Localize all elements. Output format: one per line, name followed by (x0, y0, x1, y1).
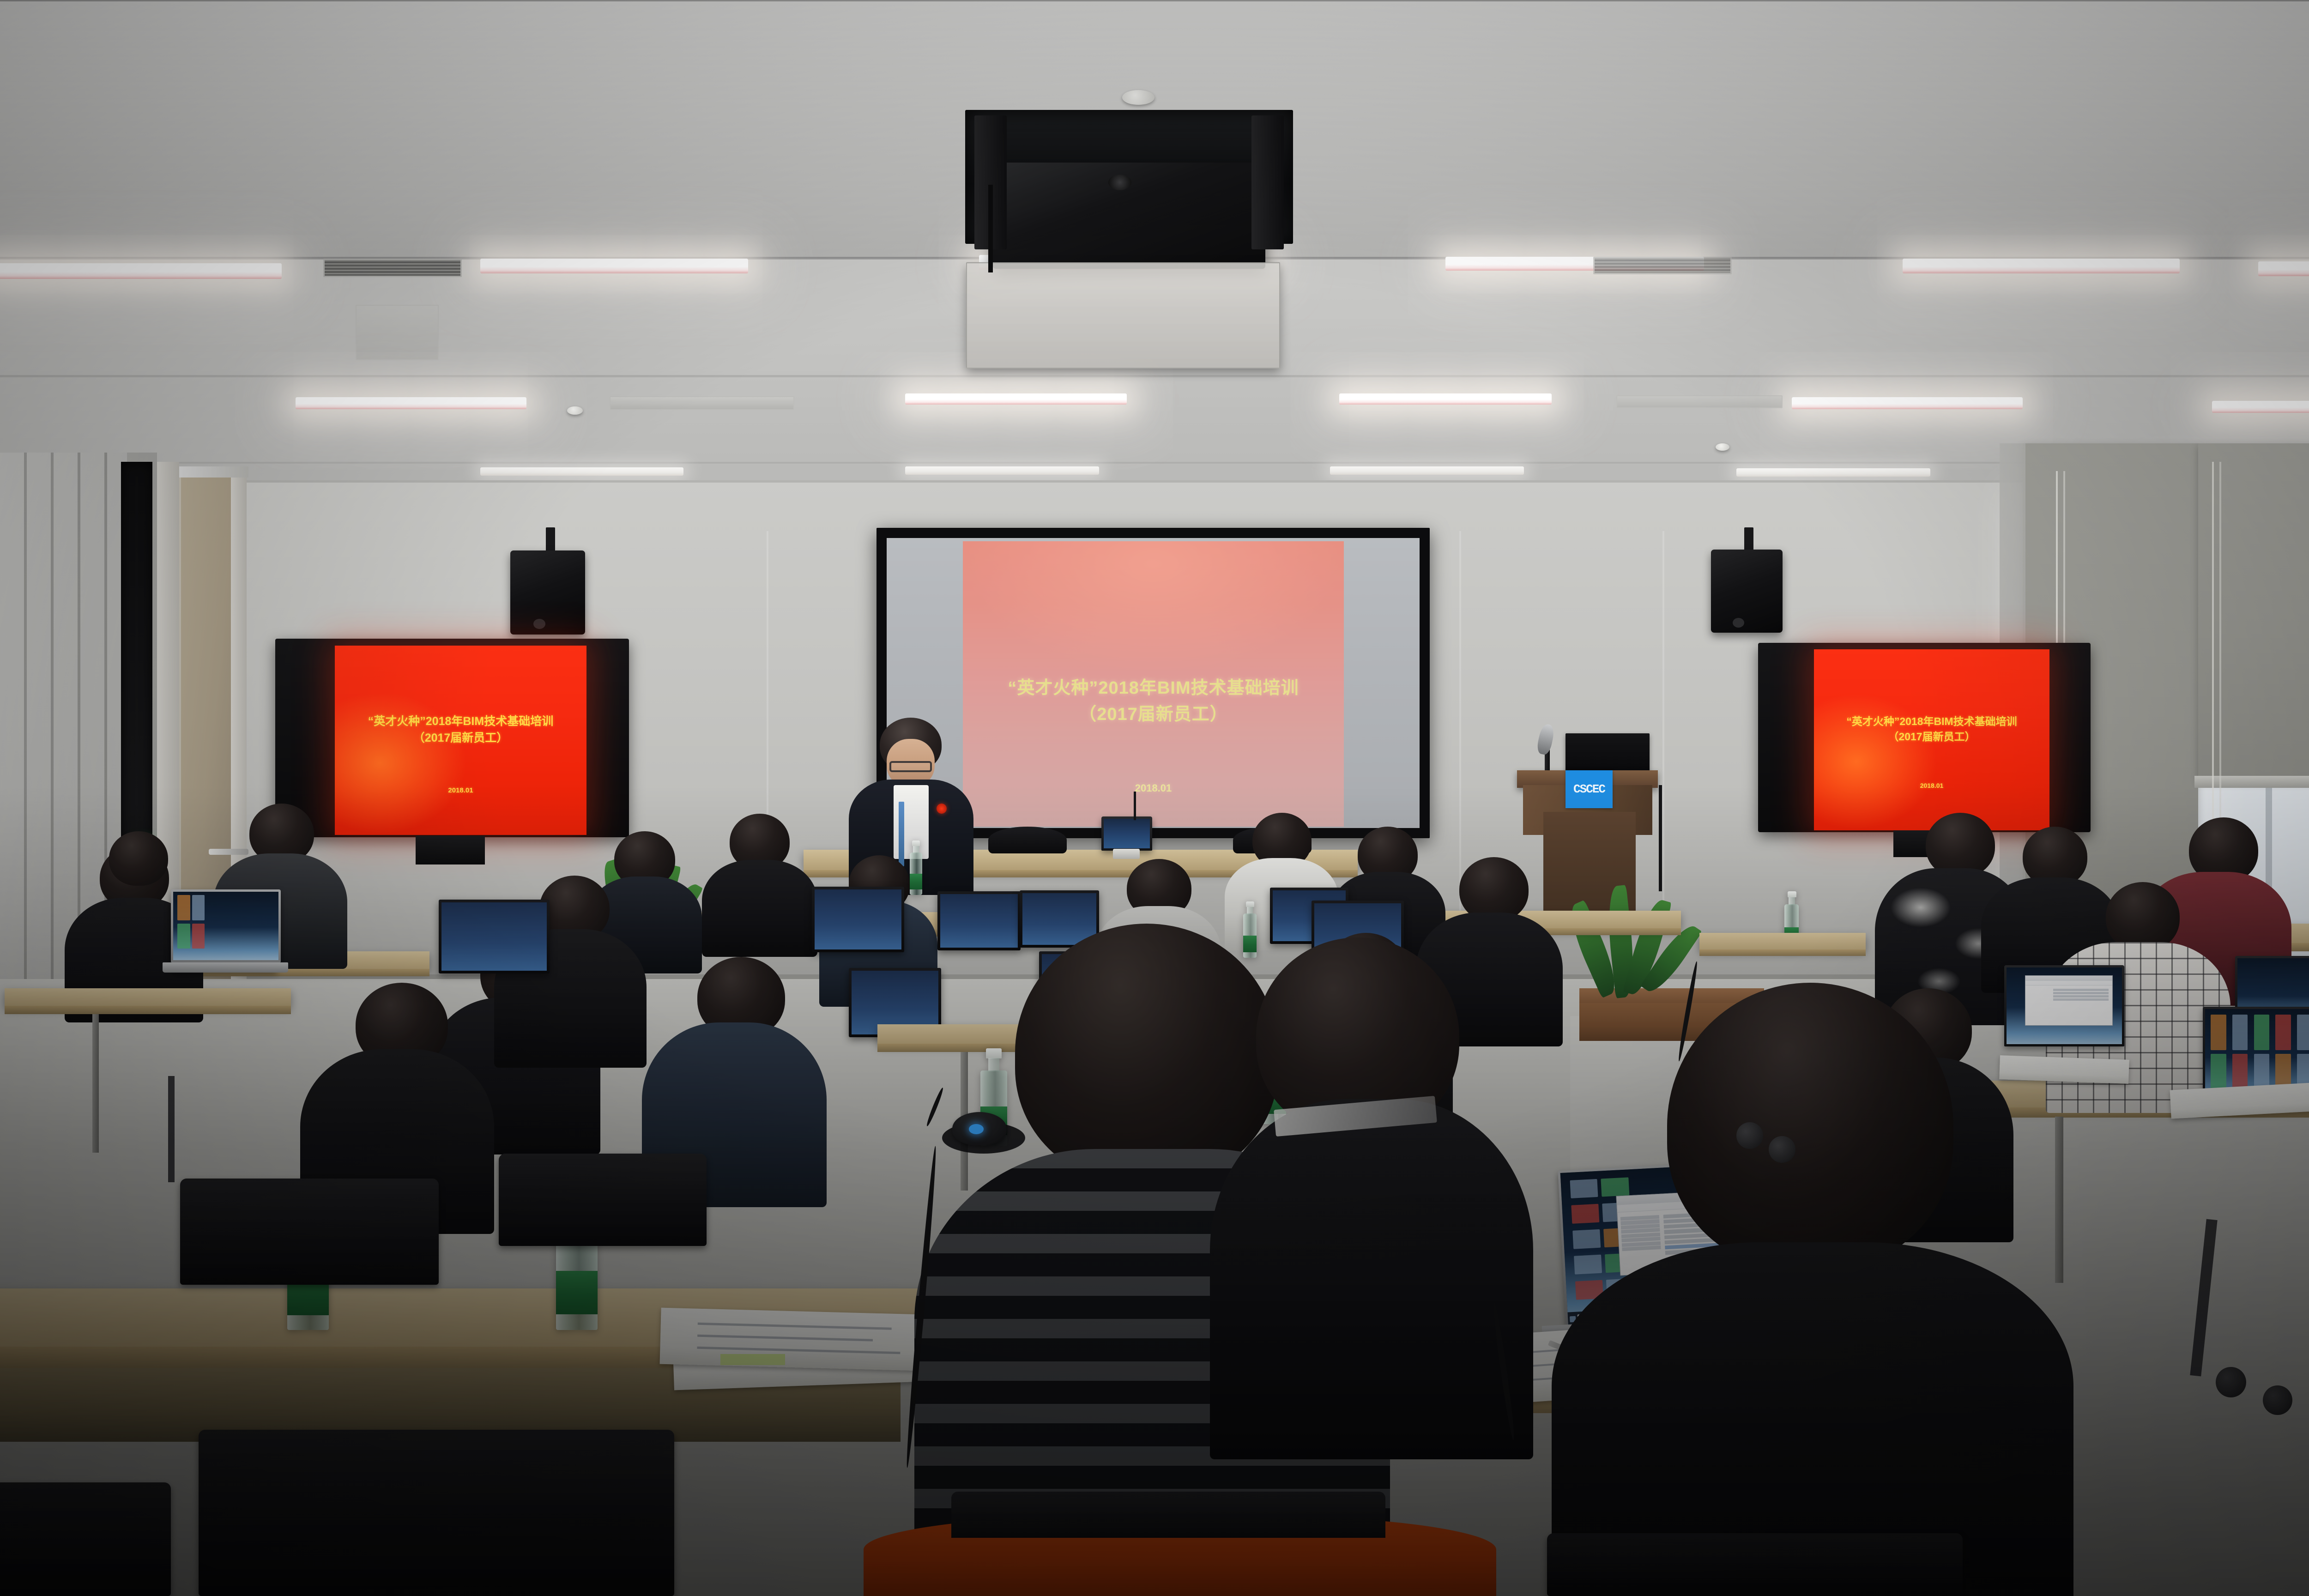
chair-caster (2216, 1367, 2246, 1397)
smoke-detector-icon (567, 406, 583, 415)
foreground-student-head (1015, 924, 1278, 1182)
left-side-desk (1699, 933, 1866, 950)
desktop-icon[interactable] (1574, 1255, 1602, 1274)
ceiling-light (2212, 401, 2309, 413)
desktop-icon[interactable] (2232, 1054, 2248, 1089)
desktop-icon[interactable] (2254, 1015, 2269, 1050)
paper-line (697, 1335, 873, 1342)
potted-plant-right (1566, 882, 1718, 1034)
desktop-icon[interactable] (1572, 1229, 1601, 1249)
window-titlebar[interactable] (2025, 976, 2112, 981)
wall-seam (0, 480, 2309, 483)
desktop-icon[interactable] (192, 924, 205, 949)
desk-phone[interactable] (1113, 849, 1140, 859)
desktop-icon[interactable] (1601, 1177, 1630, 1197)
chair[interactable] (499, 1154, 707, 1246)
monitor-screen (1022, 893, 1096, 945)
mouse-led-icon (969, 1124, 984, 1134)
desktop-icons[interactable] (177, 895, 205, 948)
bottle-label (910, 874, 922, 889)
desktop-icon[interactable] (177, 924, 190, 949)
monitor-screen (441, 902, 547, 971)
tv-left-title-line-1: “英才火种”2018年BIM技术基础培训 (368, 713, 553, 730)
hvac-vent (1616, 395, 1783, 408)
foreground-student-head-right (1667, 983, 1953, 1269)
ceiling-light (0, 263, 282, 279)
projector-lift-panel (966, 262, 1280, 369)
chair-caster (1736, 1122, 1763, 1149)
classroom-photo: “英才火种”2018年BIM技术基础培训 （2017届新员工） 2018.01 … (0, 0, 2309, 1596)
projector-lens-icon (1108, 175, 1131, 190)
projected-slide: “英才火种”2018年BIM技术基础培训 （2017届新员工） 2018.01 (963, 541, 1344, 827)
desktop-icon[interactable] (192, 895, 205, 920)
bottle-neck (988, 1058, 999, 1071)
chair-leg (168, 1076, 175, 1182)
laptop[interactable] (2004, 965, 2124, 1046)
handout-stack[interactable] (660, 1308, 957, 1372)
paper-handout[interactable] (1999, 1055, 2129, 1084)
ceiling-access-panel (356, 305, 439, 360)
laptop[interactable] (1101, 816, 1152, 851)
ceiling-seam-3 (0, 462, 2309, 464)
glasses-icon (889, 761, 932, 772)
slide-title-line-1: “英才火种”2018年BIM技术基础培训 (1008, 675, 1299, 701)
wall-panel-line (1662, 531, 1664, 901)
file-explorer-window[interactable] (2025, 975, 2113, 1026)
monitor-screen (940, 894, 1018, 948)
door-handle[interactable] (209, 849, 248, 855)
ceiling-light (1339, 393, 1552, 405)
chair[interactable] (988, 827, 1067, 853)
chair[interactable] (1547, 1533, 1963, 1596)
tv-right-screen: “英才火种”2018年BIM技术基础培训 （2017届新员工） 2018.01 (1814, 649, 2049, 830)
laptop-keyboard-base[interactable] (163, 962, 288, 973)
monitor[interactable] (812, 887, 904, 952)
file-row[interactable] (2053, 998, 2109, 1001)
speaker-driver-icon (533, 619, 545, 629)
desk-leg (92, 1014, 99, 1153)
desktop-icon[interactable] (1570, 1179, 1598, 1198)
laptop[interactable] (171, 889, 281, 962)
ceiling-light (1792, 397, 2023, 409)
file-row[interactable] (2053, 992, 2109, 994)
desktop-icon[interactable] (2211, 1054, 2226, 1089)
slide-date: 2018.01 (1135, 782, 1172, 794)
paper-line (697, 1347, 900, 1354)
desktop-icon[interactable] (177, 895, 190, 920)
chair-caster (1769, 1136, 1795, 1163)
desktop-icon[interactable] (2211, 1015, 2226, 1050)
paper-line (698, 1323, 892, 1330)
monitor[interactable] (937, 891, 1021, 950)
ceiling-seam-2 (0, 375, 2309, 377)
desktop-icon[interactable] (2254, 1054, 2269, 1089)
desktop-icon[interactable] (2232, 1015, 2248, 1050)
highlight-sheet (720, 1354, 785, 1365)
podium-logo: CSCEC (1566, 770, 1613, 808)
smoke-detector-icon (1122, 90, 1154, 105)
laptop-screen (1104, 819, 1150, 848)
chair-back[interactable] (951, 1492, 1385, 1538)
desktop-icon[interactable] (2297, 1015, 2309, 1050)
left-desk-mid (5, 988, 291, 1007)
monitor[interactable] (439, 900, 550, 973)
attendee-head (109, 831, 168, 886)
mic-gooseneck (1134, 792, 1136, 820)
chair-caster (2263, 1385, 2292, 1415)
ceiling-light (905, 466, 1099, 475)
bottle-label (556, 1271, 598, 1314)
laptop-screen (2007, 967, 2122, 1044)
water-bottle[interactable] (1242, 901, 1257, 958)
left-desk-mid-edge (5, 1006, 291, 1014)
ceiling-light (480, 467, 683, 476)
slide-title-line-2: （2017届新员工） (1079, 701, 1228, 728)
door-header (179, 466, 248, 478)
monitor-screen (815, 889, 901, 949)
window-blind[interactable] (2198, 443, 2309, 780)
speaker-driver-icon (1733, 618, 1744, 628)
hvac-vent (1593, 257, 1732, 274)
chair[interactable] (180, 1179, 439, 1285)
podium-monitor (1566, 733, 1650, 776)
file-row[interactable] (2053, 989, 2109, 991)
attendee-head (1926, 813, 1995, 877)
window-ribbon (2025, 981, 2112, 985)
chair[interactable] (0, 1482, 171, 1596)
bottle-label (1243, 936, 1257, 952)
tv-left-date: 2018.01 (448, 786, 473, 794)
podium-logo-text: CSCEC (1573, 783, 1605, 795)
wall-speaker-left (510, 550, 585, 635)
bottle-cap (912, 840, 920, 846)
desktop-icon[interactable] (2275, 1015, 2291, 1050)
chair[interactable] (199, 1430, 674, 1596)
ceiling-light (2258, 261, 2309, 276)
projector-cable (988, 185, 993, 272)
hvac-vent (323, 259, 462, 277)
desk-leg (2055, 1117, 2063, 1283)
attendee-head (1459, 857, 1529, 922)
hvac-vent (610, 396, 794, 410)
tv-left-title-line-2: （2017届新员工） (413, 730, 508, 746)
ceiling-light (905, 393, 1127, 405)
tv-left-stand (416, 836, 485, 864)
wall-panel-line (1459, 531, 1461, 924)
ceiling-light (1903, 259, 2180, 273)
ceiling-light (1330, 466, 1524, 475)
podium-cable (1659, 785, 1662, 891)
file-row[interactable] (2053, 995, 2109, 997)
desktop-icons[interactable] (2211, 1015, 2309, 1089)
attendee-head (2106, 882, 2180, 951)
ceiling-light (296, 397, 526, 409)
desktop-icon[interactable] (1571, 1204, 1600, 1223)
attendee-body (1210, 1099, 1533, 1459)
left-side-desk-edge (1699, 949, 1866, 956)
bottle-cap (1246, 901, 1254, 907)
ceiling-light (1736, 468, 1930, 477)
laptop-screen (173, 892, 278, 960)
tv-right-title-line-2: （2017届新员工） (1888, 729, 1975, 744)
presenter-lanyard (899, 802, 904, 866)
bottle-cap (1788, 891, 1796, 897)
attendee-body (702, 860, 817, 957)
lapel-pin (937, 804, 947, 814)
file-list[interactable] (2053, 989, 2109, 1023)
bottle-cap (986, 1048, 1002, 1058)
ceiling-light (480, 259, 748, 273)
water-bottle[interactable] (909, 840, 923, 895)
wall-speaker-right (1711, 550, 1783, 633)
tv-right-title-line-1: “英才火种”2018年BIM技术基础培训 (1846, 714, 2017, 729)
smoke-detector-icon (1716, 443, 1729, 451)
tv-right-date: 2018.01 (1920, 782, 1944, 789)
projector-mount-arm (1251, 115, 1284, 249)
tv-left-screen: “英才火种”2018年BIM技术基础培训 （2017届新员工） 2018.01 (335, 646, 586, 835)
